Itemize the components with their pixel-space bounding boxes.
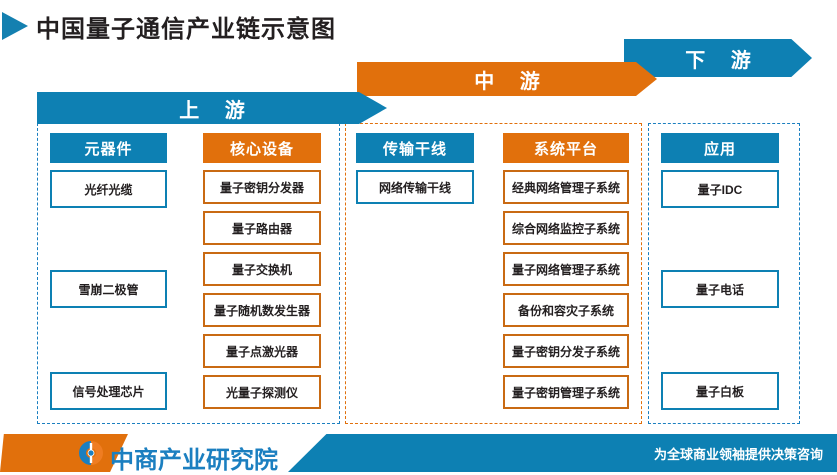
column-header-system-platform: 系统平台 [503, 133, 629, 163]
node-components-0[interactable]: 光纤光缆 [50, 170, 167, 208]
footer-orange-band [0, 434, 128, 472]
column-header-transmission-trunk: 传输干线 [356, 133, 474, 163]
banner-downstream: 下 游 [624, 39, 812, 77]
node-system-platform-0[interactable]: 经典网络管理子系统 [503, 170, 629, 204]
node-components-2[interactable]: 信号处理芯片 [50, 372, 167, 410]
banner-upstream: 上 游 [37, 92, 387, 124]
node-system-platform-5[interactable]: 量子密钥管理子系统 [503, 375, 629, 409]
company-slogan: 为全球商业领袖提供决策咨询 [654, 444, 823, 463]
node-system-platform-1[interactable]: 综合网络监控子系统 [503, 211, 629, 245]
title-arrow-icon [2, 12, 28, 40]
node-system-platform-4[interactable]: 量子密钥分发子系统 [503, 334, 629, 368]
company-logo-icon [78, 440, 104, 466]
node-core-equipment-3[interactable]: 量子随机数发生器 [203, 293, 321, 327]
node-system-platform-3[interactable]: 备份和容灾子系统 [503, 293, 629, 327]
node-core-equipment-1[interactable]: 量子路由器 [203, 211, 321, 245]
column-header-application: 应用 [661, 133, 779, 163]
company-name: 中商产业研究院 [110, 440, 278, 475]
node-system-platform-2[interactable]: 量子网络管理子系统 [503, 252, 629, 286]
banner-midstream: 中 游 [357, 62, 657, 96]
column-header-components: 元器件 [50, 133, 167, 163]
node-application-1[interactable]: 量子电话 [661, 270, 779, 308]
page-title: 中国量子通信产业链示意图 [36, 9, 336, 44]
node-components-1[interactable]: 雪崩二极管 [50, 270, 167, 308]
node-transmission-trunk-0[interactable]: 网络传输干线 [356, 170, 474, 204]
node-core-equipment-4[interactable]: 量子点激光器 [203, 334, 321, 368]
node-application-2[interactable]: 量子白板 [661, 372, 779, 410]
node-core-equipment-0[interactable]: 量子密钥分发器 [203, 170, 321, 204]
node-application-0[interactable]: 量子IDC [661, 170, 779, 208]
node-core-equipment-5[interactable]: 光量子探测仪 [203, 375, 321, 409]
diagram-canvas: 中国量子通信产业链示意图 上 游 中 游 下 游 元器件光纤光缆雪崩二极管信号处… [0, 0, 837, 472]
node-core-equipment-2[interactable]: 量子交换机 [203, 252, 321, 286]
column-header-core-equipment: 核心设备 [203, 133, 321, 163]
